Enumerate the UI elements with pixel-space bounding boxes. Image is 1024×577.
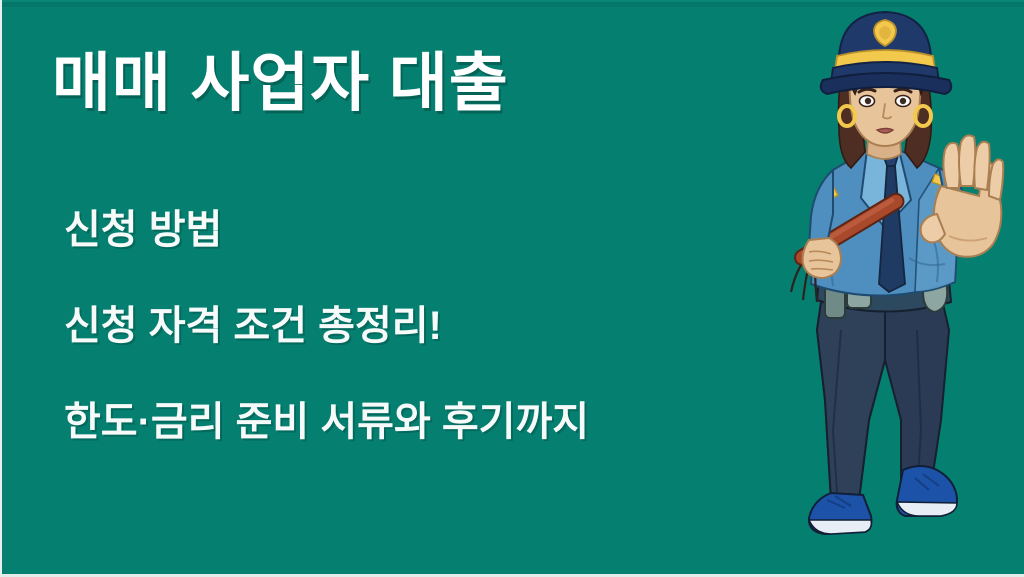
text-block: 매매 사업자 대출 신청 방법 신청 자격 조건 총정리! 한도·금리 준비 서… (2, 0, 762, 574)
finger-middle (959, 135, 975, 186)
finger-ring (974, 142, 989, 190)
police-officer-illustration (789, 0, 1024, 577)
bullet-line-1: 신청 방법 (64, 210, 589, 250)
bullet-line-2: 신청 자격 조건 총정리! (64, 306, 589, 346)
bullet-line-3: 한도·금리 준비 서류와 후기까지 (64, 402, 589, 442)
gripping-hand (803, 238, 841, 278)
police-cap (821, 12, 952, 94)
bullet-list: 신청 방법 신청 자격 조건 총정리! 한도·금리 준비 서류와 후기까지 (64, 210, 589, 442)
finger-index (943, 143, 959, 188)
slide-canvas: 매매 사업자 대출 신청 방법 신청 자격 조건 총정리! 한도·금리 준비 서… (0, 0, 1024, 577)
page-title: 매매 사업자 대출 (52, 48, 509, 120)
